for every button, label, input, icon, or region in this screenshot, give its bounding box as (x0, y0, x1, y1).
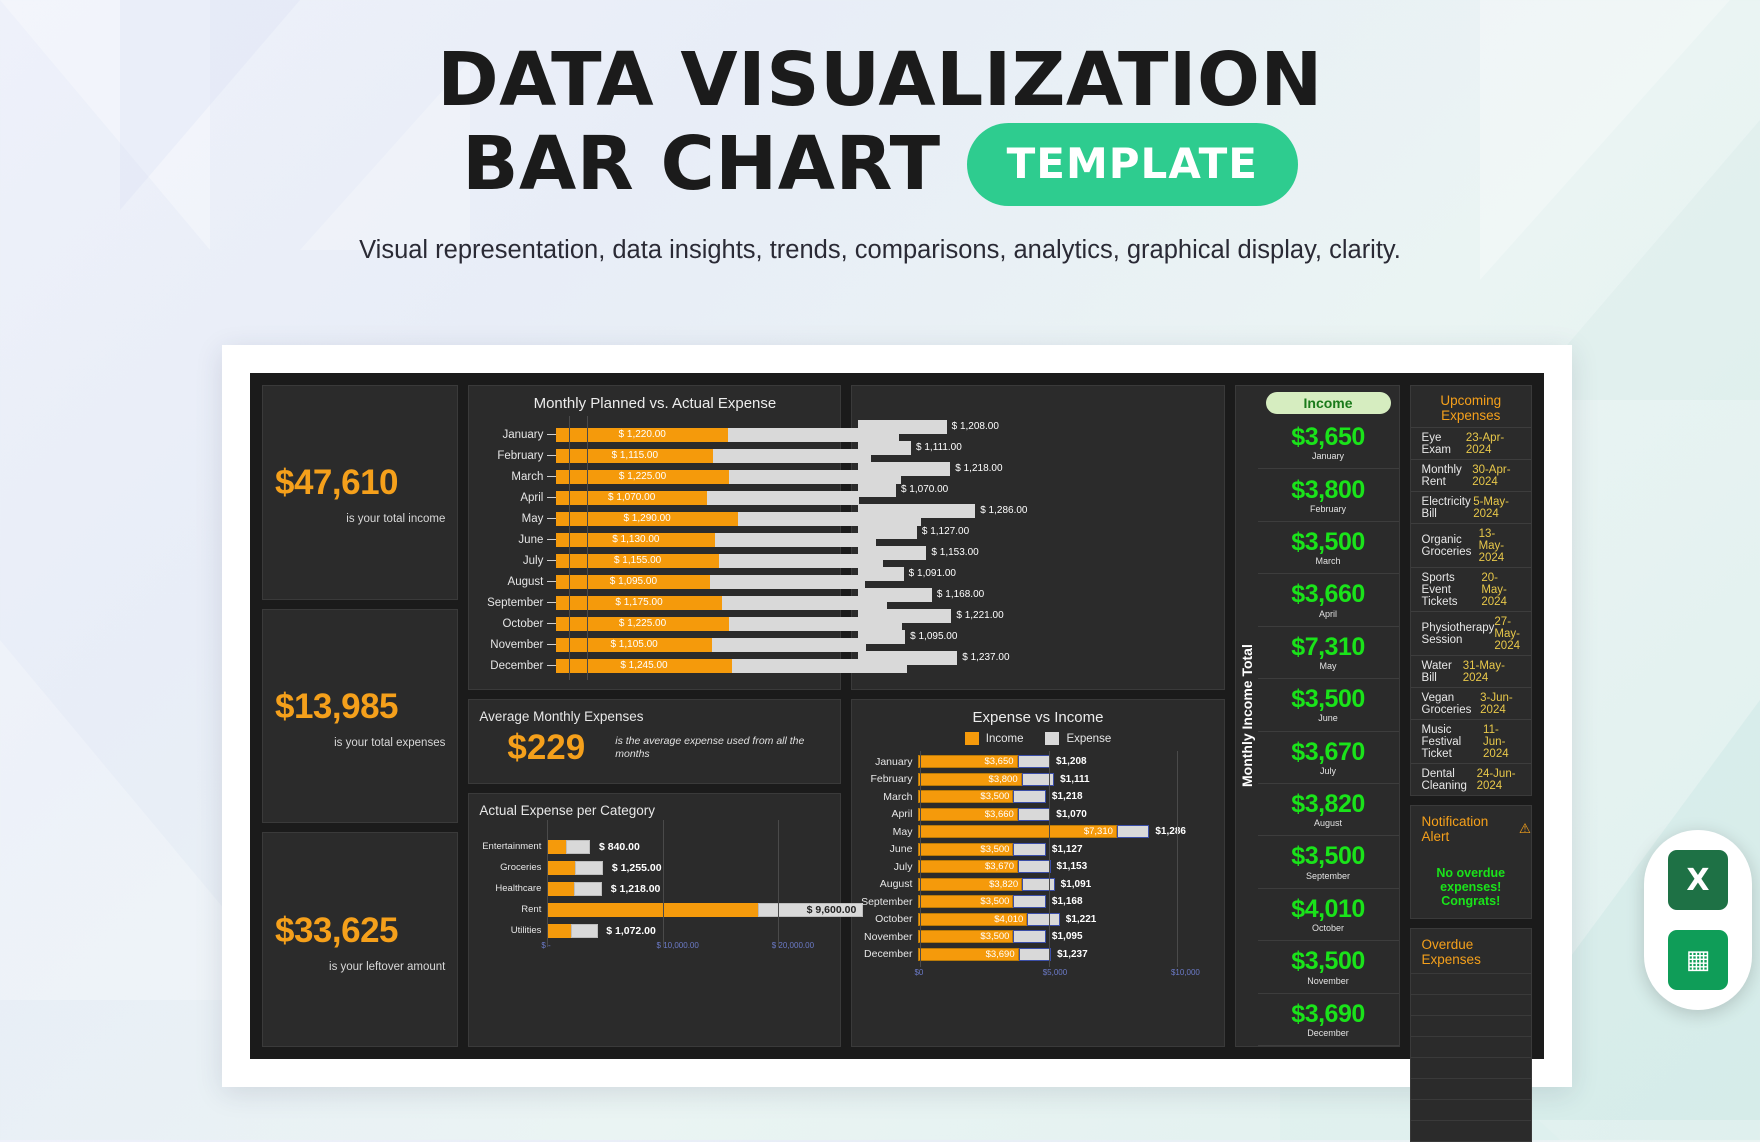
warning-icon: ⚠ (1519, 821, 1531, 837)
bar-planned: $ 1,225.00 (556, 617, 728, 631)
income-month: November (1307, 976, 1349, 986)
file-format-badges: X ▦ (1644, 830, 1752, 1010)
bar-income: $3,500 (918, 895, 1013, 908)
value-label: $ 1,153.00 (926, 546, 978, 560)
table-row: August$3,820$1,091 (856, 876, 1213, 894)
chart-plot-area: January$3,650$1,208February$3,800$1,111M… (852, 751, 1223, 967)
expense-date: 31-May-2024 (1463, 660, 1520, 684)
income-value: $3,660 (1291, 581, 1364, 607)
expense-name: Sports Event Tickets (1422, 572, 1482, 608)
bar-track: $ 1,070.00 (858, 483, 1213, 497)
table-row: $ 1,221.00 (858, 605, 1213, 626)
tick-icon (547, 644, 556, 645)
bar-track: $ 1,127.00 (858, 525, 1213, 539)
panel-title: Notification Alert ⚠ (1411, 806, 1531, 844)
income-month: October (1312, 923, 1344, 933)
bar-planned (547, 903, 758, 917)
bar-planned: $ 1,175.00 (556, 596, 721, 610)
bar-track: $ 1,072.00 (547, 924, 830, 938)
excel-icon: X (1686, 863, 1709, 898)
category-label: December (856, 948, 918, 960)
panel-title: Upcoming Expenses (1411, 386, 1531, 427)
income-cell: $4,010October (1258, 889, 1399, 941)
bar-planned: $ 1,070.00 (556, 491, 707, 505)
bar-track: $ 1,115.00 (556, 449, 830, 463)
bar-track: $4,010$1,221 (918, 913, 1213, 926)
expense-date: 3-Jun-2024 (1480, 692, 1520, 716)
bar-planned: $ 1,245.00 (556, 659, 731, 673)
notification-title-text: Notification Alert (1422, 814, 1512, 844)
legend-swatch-icon (1045, 732, 1059, 745)
tick-icon (547, 581, 556, 582)
bar-expense (1022, 878, 1054, 891)
chart-expense-vs-income: Expense vs Income Income Expense January… (851, 699, 1224, 1047)
list-item[interactable]: Vegan Groceries3-Jun-2024 (1411, 687, 1531, 719)
value-label: $ 1,286.00 (975, 504, 1027, 518)
list-item[interactable]: Eye Exam23-Apr-2024 (1411, 427, 1531, 459)
panel-average-monthly-expenses: Average Monthly Expenses $229 is the ave… (468, 699, 841, 784)
legend-item-expense: Expense (1045, 732, 1111, 745)
chart-planned-vs-actual: Monthly Planned vs. Actual Expense Janua… (468, 385, 841, 690)
expense-date: 30-Apr-2024 (1472, 464, 1520, 488)
bar-planned (547, 882, 574, 896)
value-label: $ 1,208.00 (947, 420, 999, 434)
income-month: June (1318, 713, 1338, 723)
excel-badge[interactable]: X (1668, 850, 1728, 910)
category-label: January (475, 429, 547, 441)
chart-actual-expense-per-category: Actual Expense per Category Entertainmen… (468, 793, 841, 1047)
bar-actual (858, 483, 896, 497)
panel-title: Overdue Expenses (1411, 929, 1531, 967)
income-cell: $3,500September (1258, 836, 1399, 888)
bar-income: $3,820 (918, 878, 1022, 891)
legend-swatch-icon (965, 732, 979, 745)
tick-icon (547, 560, 556, 561)
page-header: DATA VISUALIZATION BAR CHART TEMPLATE Vi… (0, 0, 1760, 265)
bar-expense (1013, 895, 1045, 908)
category-label: January (856, 756, 918, 768)
income-cell: $3,820August (1258, 784, 1399, 836)
bar-expense (1018, 755, 1050, 768)
value-label: $ 1,168.00 (932, 588, 984, 602)
table-row: April$ 1,070.00 (475, 487, 830, 508)
bar-actual (858, 651, 957, 665)
income-month: August (1314, 818, 1342, 828)
table-row: September$3,500$1,168 (856, 893, 1213, 911)
tick-icon (547, 497, 556, 498)
income-value: $7,310 (1291, 634, 1364, 660)
expense-date: 23-Apr-2024 (1466, 432, 1520, 456)
category-label: April (856, 808, 918, 820)
bar-track: $ 1,095.00 (858, 630, 1213, 644)
expense-name: Organic Groceries (1422, 534, 1479, 558)
page-title-line1: DATA VISUALIZATION (0, 44, 1760, 117)
table-row: November$ 1,105.00 (475, 634, 830, 655)
bar-actual (858, 462, 950, 476)
expense-date: 13-May-2024 (1479, 528, 1520, 564)
bar-planned: $ 1,225.00 (556, 470, 728, 484)
category-label: June (475, 534, 547, 546)
legend-label: Income (986, 733, 1024, 745)
income-value: $3,820 (1291, 791, 1364, 817)
bar-planned: $ 1,220.00 (556, 428, 728, 442)
list-item[interactable] (1411, 1078, 1531, 1099)
list-item[interactable]: Sports Event Tickets20-May-2024 (1411, 567, 1531, 611)
kpi-total-expenses: $13,985 is your total expenses (262, 609, 458, 824)
table-row: May$7,310$1,286 (856, 823, 1213, 841)
kpi-value: $13,985 (275, 687, 445, 727)
bar-planned: $ 1,095.00 (556, 575, 710, 589)
upcoming-expenses-list: Eye Exam23-Apr-2024Monthly Rent30-Apr-20… (1411, 427, 1531, 795)
income-month: May (1320, 661, 1337, 671)
value-label: $ 1,218.00 (611, 881, 661, 897)
bar-income: $3,670 (918, 860, 1018, 873)
table-row: $ 1,070.00 (858, 479, 1213, 500)
bar-actual (858, 441, 911, 455)
list-item[interactable] (1411, 1120, 1531, 1141)
kpi-column: $47,610 is your total income $13,985 is … (262, 385, 458, 1047)
list-item[interactable]: Monthly Rent30-Apr-2024 (1411, 459, 1531, 491)
income-value: $3,650 (1291, 424, 1364, 450)
value-label: $ 1,127.00 (917, 525, 969, 539)
bar-track: $ 1,130.00 (556, 533, 830, 547)
bar-planned (547, 861, 575, 875)
bar-track: $ 1,237.00 (858, 651, 1213, 665)
bar-track: $ 1,225.00 (556, 470, 830, 484)
income-cell: $3,670July (1258, 732, 1399, 784)
income-header: Income (1266, 392, 1391, 414)
bar-actual (858, 546, 926, 560)
right-column: Upcoming Expenses Eye Exam23-Apr-2024Mon… (1410, 385, 1532, 1047)
value-label: $ 1,218.00 (950, 462, 1002, 476)
bar-track: $ 1,091.00 (858, 567, 1213, 581)
income-cell: $7,310May (1258, 627, 1399, 679)
list-item[interactable]: Electricity Bill5-May-2024 (1411, 491, 1531, 523)
income-cell: $3,660April (1258, 574, 1399, 626)
bar-track: $ 1,208.00 (858, 420, 1213, 434)
bar-actual (575, 861, 604, 875)
list-item[interactable] (1411, 1015, 1531, 1036)
bar-track: $ 1,105.00 (556, 638, 830, 652)
bar-planned (547, 924, 571, 938)
table-row: May$ 1,290.00 (475, 508, 830, 529)
bar-income: $3,800 (918, 773, 1021, 786)
table-row: February$ 1,115.00 (475, 445, 830, 466)
value-label: $1,153 (1051, 860, 1088, 873)
table-row: $ 1,218.00 (858, 458, 1213, 479)
tick-icon (547, 476, 556, 477)
bar-track: $ 1,255.00 (547, 861, 830, 875)
bar-planned: $ 1,115.00 (556, 449, 713, 463)
value-label: $ 1,070.00 (896, 483, 948, 497)
category-label: August (475, 576, 547, 588)
gridline (569, 416, 570, 680)
bar-track: $3,670$1,153 (918, 860, 1213, 873)
sheets-icon: ▦ (1686, 945, 1711, 975)
income-month: July (1320, 766, 1336, 776)
income-month: March (1316, 556, 1341, 566)
expense-name: Eye Exam (1422, 432, 1466, 456)
table-row: $ 1,127.00 (858, 521, 1213, 542)
category-label: November (475, 639, 547, 651)
income-month: December (1307, 1028, 1349, 1038)
category-label: Groceries (475, 862, 547, 873)
value-label: $ 1,237.00 (957, 651, 1009, 665)
bar-track: $3,820$1,091 (918, 878, 1213, 891)
income-value: $3,500 (1291, 843, 1364, 869)
tick-icon (547, 602, 556, 603)
kpi-caption: is your leftover amount (275, 961, 445, 973)
bar-income: $3,660 (918, 808, 1017, 821)
gridline (1177, 751, 1178, 967)
kpi-caption: is your total income (275, 513, 445, 525)
category-label: Entertainment (475, 841, 547, 852)
axis-tick-label: $ 20,000.00 (772, 941, 814, 950)
category-label: February (856, 773, 918, 785)
table-row: June$3,500$1,127 (856, 841, 1213, 859)
table-row: $ 1,095.00 (858, 626, 1213, 647)
bar-track: $3,500$1,168 (918, 895, 1213, 908)
income-value: $3,690 (1291, 1001, 1364, 1027)
bar-expense (1027, 913, 1059, 926)
bar-planned (547, 840, 565, 854)
bar-income: $3,500 (918, 790, 1013, 803)
value-label: $ 9,600.00 (807, 902, 857, 918)
bar-actual (574, 882, 602, 896)
table-row: $ 1,208.00 (858, 416, 1213, 437)
category-label: October (475, 618, 547, 630)
chart-plot-area: Entertainment$ 840.00Groceries$ 1,255.00… (469, 820, 840, 947)
income-value: $3,500 (1291, 529, 1364, 555)
bar-actual (858, 525, 916, 539)
gridline (1049, 751, 1050, 967)
overdue-expenses-list (1411, 967, 1531, 1141)
chart-plot-area: January$ 1,220.00February$ 1,115.00March… (469, 416, 840, 680)
page-subtitle: Visual representation, data insights, tr… (0, 236, 1760, 265)
bar-track: $ 9,600.00 (547, 903, 830, 917)
expense-name: Vegan Groceries (1422, 692, 1481, 716)
bar-track: $ 1,155.00 (556, 554, 830, 568)
expense-name: Electricity Bill (1422, 496, 1474, 520)
category-label: April (475, 492, 547, 504)
gridline (778, 820, 779, 947)
tick-icon (547, 434, 556, 435)
category-label: July (475, 555, 547, 567)
income-cell: $3,500March (1258, 522, 1399, 574)
bar-actual (858, 420, 946, 434)
bar-expense (1013, 790, 1045, 803)
table-row: March$3,500$1,218 (856, 788, 1213, 806)
expense-name: Monthly Rent (1422, 464, 1473, 488)
income-cells: $3,650January$3,800February$3,500March$3… (1258, 417, 1399, 1046)
value-label: $1,091 (1055, 878, 1092, 891)
legend-item-income: Income (965, 732, 1024, 745)
bar-expense (1019, 948, 1051, 961)
bar-income: $3,650 (918, 755, 1017, 768)
panel-monthly-income-total: Monthly Income Total Income $3,650Januar… (1235, 385, 1400, 1047)
bar-income: $4,010 (918, 913, 1027, 926)
list-item[interactable]: Water Bill31-May-2024 (1411, 655, 1531, 687)
list-item[interactable] (1411, 1099, 1531, 1120)
list-item[interactable]: Physiotherapy Session27-May-2024 (1411, 611, 1531, 655)
bar-income: $7,310 (918, 825, 1116, 838)
bar-track: $ 1,111.00 (858, 441, 1213, 455)
gridline (587, 416, 588, 680)
category-label: June (856, 843, 918, 855)
income-cell: $3,500November (1258, 941, 1399, 993)
chart-title: Expense vs Income (852, 700, 1223, 730)
bar-expense (1013, 843, 1045, 856)
bar-track: $ 1,225.00 (556, 617, 830, 631)
bar-expense (1018, 808, 1050, 821)
table-row: July$ 1,155.00 (475, 550, 830, 571)
list-item[interactable] (1411, 1036, 1531, 1057)
category-label: October (856, 913, 918, 925)
bar-track: $ 1,153.00 (858, 546, 1213, 560)
list-item[interactable] (1411, 1057, 1531, 1078)
income-month: January (1312, 451, 1344, 461)
table-row: October$ 1,225.00 (475, 613, 830, 634)
table-row: $ 1,168.00 (858, 584, 1213, 605)
kpi-total-income: $47,610 is your total income (262, 385, 458, 600)
table-row: $ 1,286.00 (858, 500, 1213, 521)
list-item[interactable]: Dental Cleaning24-Jun-2024 (1411, 763, 1531, 795)
list-item[interactable] (1411, 994, 1531, 1015)
table-row: $ 1,111.00 (858, 437, 1213, 458)
bar-income: $3,500 (918, 843, 1013, 856)
category-label: May (475, 513, 547, 525)
bar-planned: $ 1,105.00 (556, 638, 711, 652)
income-value: $3,670 (1291, 739, 1364, 765)
table-row: September$ 1,175.00 (475, 592, 830, 613)
gridline (547, 820, 548, 947)
value-label: $1,208 (1050, 755, 1087, 768)
income-value: $3,800 (1291, 477, 1364, 503)
axis-tick-label: $ - (541, 941, 550, 950)
income-cell: $3,650January (1258, 417, 1399, 469)
category-label: August (856, 878, 918, 890)
expense-name: Physiotherapy Session (1422, 622, 1495, 646)
value-label: $1,127 (1046, 843, 1083, 856)
category-label: December (475, 660, 547, 672)
income-month: April (1319, 609, 1337, 619)
income-value: $3,500 (1291, 686, 1364, 712)
bar-track: $3,690$1,237 (918, 948, 1213, 961)
expense-date: 20-May-2024 (1481, 572, 1520, 608)
left-charts-column: Monthly Planned vs. Actual Expense Janua… (468, 385, 841, 1047)
category-label: March (856, 791, 918, 803)
value-label: $ 1,111.00 (911, 441, 962, 455)
bar-track: $3,650$1,208 (918, 755, 1213, 768)
value-label: $1,237 (1051, 948, 1088, 961)
panel-upcoming-expenses: Upcoming Expenses Eye Exam23-Apr-2024Mon… (1410, 385, 1532, 796)
table-row: June$ 1,130.00 (475, 529, 830, 550)
gridline (920, 751, 921, 967)
income-value: $4,010 (1291, 896, 1364, 922)
kpi-caption: is your total expenses (275, 737, 445, 749)
bar-track: $ 1,175.00 (556, 596, 830, 610)
bar-income: $3,690 (918, 948, 1018, 961)
value-label: $1,070 (1050, 808, 1087, 821)
average-value: $229 (481, 728, 585, 768)
spacer-panel-top: $ 1,208.00$ 1,111.00$ 1,218.00$ 1,070.00… (851, 385, 1224, 690)
bar-expense (1018, 860, 1050, 873)
expense-date: 11-Jun-2024 (1483, 724, 1520, 760)
value-label: $1,095 (1046, 930, 1083, 943)
table-row: April$3,660$1,070 (856, 806, 1213, 824)
bar-planned: $ 1,130.00 (556, 533, 715, 547)
bar-actual (858, 504, 975, 518)
table-row: February$3,800$1,111 (856, 771, 1213, 789)
table-row: December$3,690$1,237 (856, 946, 1213, 964)
axis-tick-label: $0 (914, 968, 923, 977)
chart-legend: Income Expense (852, 730, 1223, 751)
bar-track: $ 840.00 (547, 840, 830, 854)
planned-actual-value-labels: $ 1,208.00$ 1,111.00$ 1,218.00$ 1,070.00… (852, 386, 1223, 672)
category-label: Rent (475, 904, 547, 915)
panel-overdue-expenses: Overdue Expenses (1410, 928, 1532, 1142)
list-item[interactable]: Organic Groceries13-May-2024 (1411, 523, 1531, 567)
tick-icon (547, 665, 556, 666)
value-label: $ 1,221.00 (951, 609, 1003, 623)
value-label: $1,168 (1046, 895, 1083, 908)
category-label: March (475, 471, 547, 483)
income-list: Income $3,650January$3,800February$3,500… (1258, 386, 1399, 1046)
tick-icon (547, 518, 556, 519)
value-label: $1,111 (1054, 773, 1089, 786)
category-label: September (475, 597, 547, 609)
kpi-value: $47,610 (275, 463, 445, 503)
bar-track: $ 1,070.00 (556, 491, 830, 505)
bar-track: $3,500$1,095 (918, 930, 1213, 943)
chart-title: Actual Expense per Category (469, 794, 840, 820)
category-label: July (856, 861, 918, 873)
panel-notification-alert: Notification Alert ⚠ No overdue expenses… (1410, 805, 1532, 919)
list-item[interactable] (1411, 973, 1531, 994)
bar-track: $ 1,245.00 (556, 659, 830, 673)
value-label: $ 1,255.00 (612, 860, 662, 876)
table-row: November$3,500$1,095 (856, 928, 1213, 946)
expense-date: 5-May-2024 (1473, 496, 1520, 520)
bar-track: $ 1,095.00 (556, 575, 830, 589)
template-badge: TEMPLATE (967, 123, 1298, 206)
category-label: November (856, 931, 918, 943)
income-month: February (1310, 504, 1346, 514)
income-cell: $3,500June (1258, 679, 1399, 731)
bar-actual (858, 588, 931, 602)
table-row: $ 1,091.00 (858, 563, 1213, 584)
list-item[interactable]: Music Festival Ticket11-Jun-2024 (1411, 719, 1531, 763)
axis-tick-label: $10,000 (1171, 968, 1200, 977)
sheets-badge[interactable]: ▦ (1668, 930, 1728, 990)
bar-track: $7,310$1,286 (918, 825, 1213, 838)
table-row: October$4,010$1,221 (856, 911, 1213, 929)
average-note: is the average expense used from all the… (615, 735, 828, 761)
expense-vs-income-column: $ 1,208.00$ 1,111.00$ 1,218.00$ 1,070.00… (851, 385, 1224, 1047)
table-row: July$3,670$1,153 (856, 858, 1213, 876)
table-row: January$ 1,220.00 (475, 424, 830, 445)
category-label: September (856, 896, 918, 908)
panel-title: Average Monthly Expenses (469, 700, 840, 726)
page-title-line2: BAR CHART (462, 128, 941, 201)
category-label: Utilities (475, 925, 547, 936)
table-row: March$ 1,225.00 (475, 466, 830, 487)
tick-icon (547, 623, 556, 624)
bar-income: $3,500 (918, 930, 1013, 943)
tick-icon (547, 455, 556, 456)
income-value: $3,500 (1291, 948, 1364, 974)
table-row: December$ 1,245.00 (475, 655, 830, 676)
